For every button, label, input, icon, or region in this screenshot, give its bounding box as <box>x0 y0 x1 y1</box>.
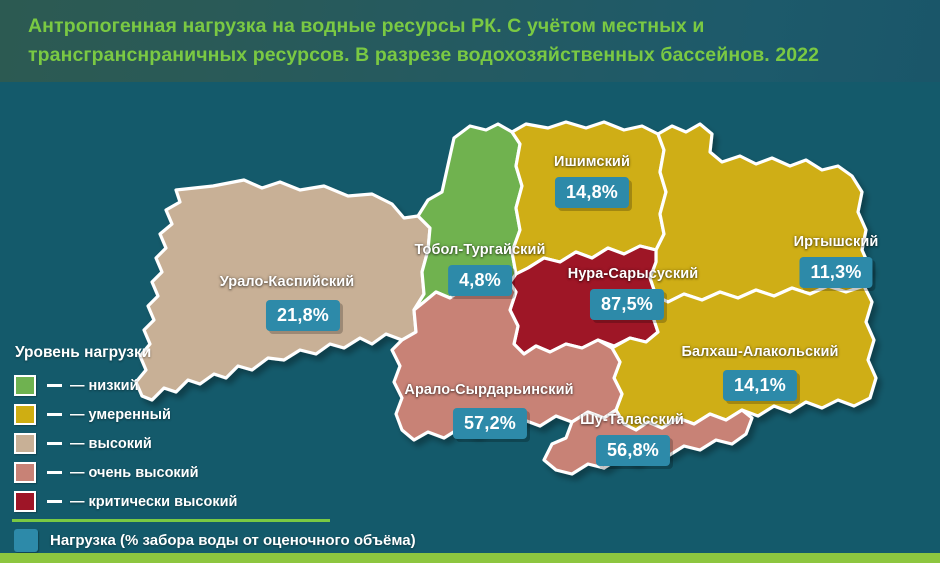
footer-note-label: Нагрузка (% забора воды от оценочного об… <box>50 532 416 549</box>
region-badge-nura-sarysu[interactable]: 87,5% <box>590 289 664 320</box>
legend-item-very-high[interactable]: — очень высокий <box>14 458 284 487</box>
region-badge-tobol-turgai[interactable]: 4,8% <box>448 265 512 296</box>
legend-item-low[interactable]: — низкий <box>14 371 284 400</box>
legend-item-moderate[interactable]: — умеренный <box>14 400 284 429</box>
map-stage: Тобол-Тургайский 4,8% Ишимский 14,8% Ирт… <box>0 82 940 563</box>
footer-divider <box>12 519 330 522</box>
region-badge-ishim[interactable]: 14,8% <box>555 177 629 208</box>
region-label-balkhash-alakol: Балхаш-Алакольский <box>681 344 838 360</box>
legend-label-low: — низкий <box>70 378 139 394</box>
legend-dash-icon <box>47 413 62 416</box>
legend-swatch-low-icon <box>14 375 36 396</box>
region-label-nura-sarysu: Нура-Сарысуский <box>568 266 698 282</box>
legend-dash-icon <box>47 471 62 474</box>
legend-item-critical[interactable]: — критически высокий <box>14 487 284 516</box>
legend-label-critical: — критически высокий <box>70 494 237 510</box>
region-label-ishim: Ишимский <box>554 154 630 170</box>
legend-item-high[interactable]: — высокий <box>14 429 284 458</box>
region-badge-ural-caspian[interactable]: 21,8% <box>266 300 340 331</box>
bottom-accent-bar <box>0 553 940 563</box>
region-label-tobol-turgai: Тобол-Тургайский <box>414 242 545 258</box>
region-label-aral-syrdarya: Арало-Сырдарьинский <box>404 382 573 398</box>
legend-swatch-very-high-icon <box>14 462 36 483</box>
legend-swatch-moderate-icon <box>14 404 36 425</box>
region-badge-balkhash-alakol[interactable]: 14,1% <box>723 370 797 401</box>
legend-label-very-high: — очень высокий <box>70 465 199 481</box>
legend-label-high: — высокий <box>70 436 152 452</box>
region-badge-irtysh[interactable]: 11,3% <box>799 257 872 288</box>
legend-swatch-critical-icon <box>14 491 36 512</box>
legend: Уровень нагрузки — низкий — умеренный — … <box>14 344 284 516</box>
region-badge-aral-syrdarya[interactable]: 57,2% <box>453 408 527 439</box>
legend-dash-icon <box>47 500 62 503</box>
legend-title: Уровень нагрузки <box>15 344 284 362</box>
legend-dash-icon <box>47 384 62 387</box>
page-title: Антропогенная нагрузка на водные ресурсы… <box>28 12 918 70</box>
header-bar: Антропогенная нагрузка на водные ресурсы… <box>0 0 940 82</box>
footer-swatch-icon <box>14 529 38 552</box>
region-badge-shu-talas[interactable]: 56,8% <box>596 435 670 466</box>
region-label-ural-caspian: Урало-Каспийский <box>220 274 355 290</box>
legend-label-moderate: — умеренный <box>70 407 171 423</box>
infographic-root: Антропогенная нагрузка на водные ресурсы… <box>0 0 940 563</box>
legend-swatch-high-icon <box>14 433 36 454</box>
footer-note: Нагрузка (% забора воды от оценочного об… <box>14 529 416 552</box>
region-label-irtysh: Иртышский <box>794 234 879 250</box>
region-label-shu-talas: Шу-Таласский <box>580 412 684 428</box>
legend-dash-icon <box>47 442 62 445</box>
